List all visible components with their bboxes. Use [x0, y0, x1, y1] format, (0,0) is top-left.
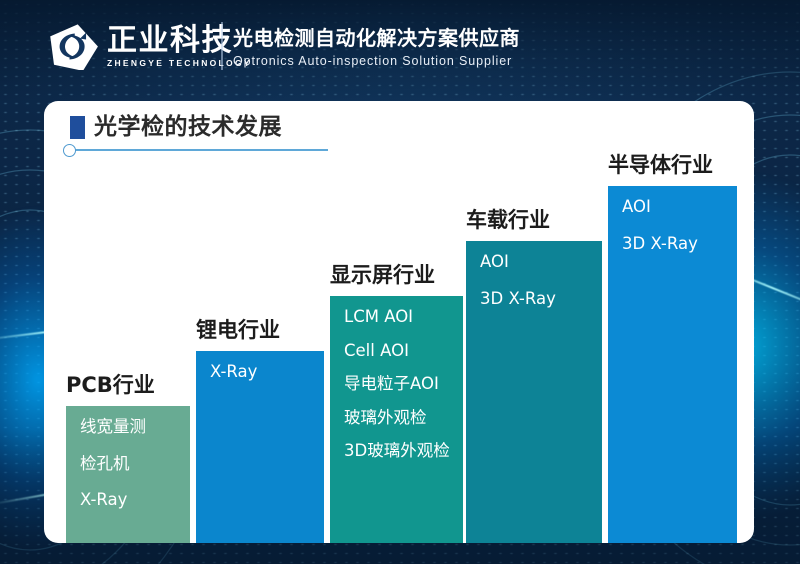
bar-item: Cell AOI: [344, 343, 463, 360]
bar-item: 线宽量测: [80, 419, 190, 436]
bar-label-1: PCB行业: [66, 369, 155, 399]
bar-group-4: 车载行业AOI3D X-Ray: [466, 241, 602, 543]
bar-item: AOI: [622, 199, 737, 216]
bar-2[interactable]: X-Ray: [196, 351, 324, 543]
bar-1[interactable]: 线宽量测检孔机X-Ray: [66, 406, 190, 543]
bar-item: X-Ray: [80, 492, 190, 509]
bar-item: 导电粒子AOI: [344, 376, 463, 393]
bar-chart: PCB行业线宽量测检孔机X-Ray锂电行业X-Ray显示屏行业LCM AOICe…: [44, 101, 754, 543]
tagline-en: Optronics Auto-inspection Solution Suppl…: [233, 52, 520, 70]
bar-4[interactable]: AOI3D X-Ray: [466, 241, 602, 543]
bar-label-2: 锂电行业: [196, 314, 280, 344]
bar-item: 3D X-Ray: [622, 236, 737, 253]
bar-item: 3D玻璃外观检: [344, 443, 463, 460]
content-card: 光学检的技术发展 PCB行业线宽量测检孔机X-Ray锂电行业X-Ray显示屏行业…: [44, 101, 754, 543]
bar-item: 玻璃外观检: [344, 410, 463, 427]
bar-group-3: 显示屏行业LCM AOICell AOI导电粒子AOI玻璃外观检3D玻璃外观检: [330, 296, 463, 543]
bar-item: 3D X-Ray: [480, 291, 602, 308]
zhengye-swirl-logo-icon: [46, 23, 100, 70]
brand-name-cn: 正业科技: [107, 25, 252, 56]
bar-item: LCM AOI: [344, 309, 463, 326]
bar-label-3: 显示屏行业: [330, 259, 435, 289]
bar-label-4: 车载行业: [466, 204, 550, 234]
bar-group-2: 锂电行业X-Ray: [196, 351, 324, 543]
bar-label-5: 半导体行业: [608, 149, 713, 179]
tagline-cn: 光电检测自动化解决方案供应商: [233, 25, 520, 51]
bar-3[interactable]: LCM AOICell AOI导电粒子AOI玻璃外观检3D玻璃外观检: [330, 296, 463, 543]
brand-logo-text: 正业科技 ZHENGYE TECHNOLOGY: [107, 25, 252, 69]
bar-item: 检孔机: [80, 456, 190, 473]
bar-item: AOI: [480, 254, 602, 271]
bar-group-1: PCB行业线宽量测检孔机X-Ray: [66, 406, 190, 543]
page-header: 正业科技 ZHENGYE TECHNOLOGY 光电检测自动化解决方案供应商 O…: [0, 0, 800, 92]
header-tagline: 光电检测自动化解决方案供应商 Optronics Auto-inspection…: [233, 25, 520, 70]
bar-group-5: 半导体行业AOI3D X-Ray: [608, 186, 737, 543]
bar-item: X-Ray: [210, 364, 324, 381]
bar-5[interactable]: AOI3D X-Ray: [608, 186, 737, 543]
slide-canvas: 正业科技 ZHENGYE TECHNOLOGY 光电检测自动化解决方案供应商 O…: [0, 0, 800, 564]
header-divider: [221, 22, 223, 70]
brand-name-en: ZHENGYE TECHNOLOGY: [107, 57, 252, 69]
